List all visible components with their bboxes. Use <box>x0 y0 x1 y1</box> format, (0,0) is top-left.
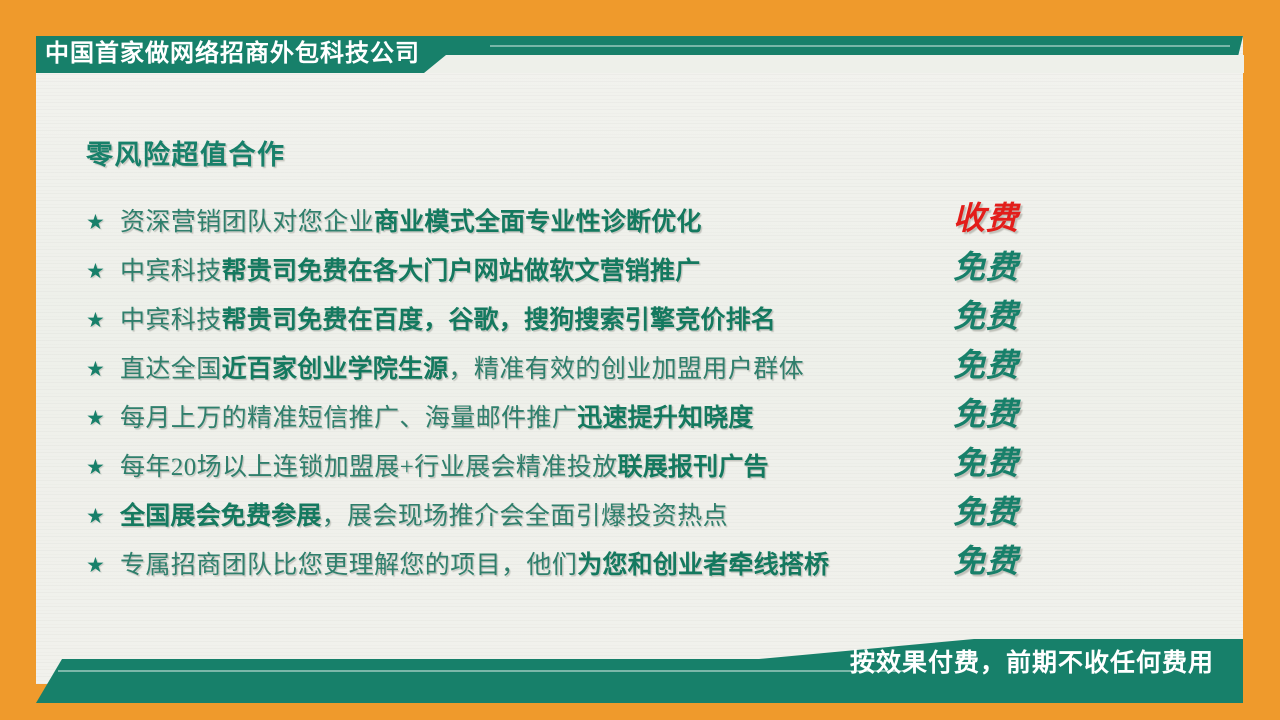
price-badge: 免费 <box>953 539 1073 588</box>
benefit-text-plain-before: 专属招商团队比您更理解您的项目，他们 <box>120 552 577 579</box>
benefit-text-plain-after: ，精准有效的创业加盟用户群体 <box>448 356 804 383</box>
footer-tagline: 按效果付费，前期不收任何费用 <box>850 645 1214 681</box>
benefit-text: 每月上万的精准短信推广、海量邮件推广迅速提升知晓度 <box>120 405 754 433</box>
benefit-text-emphasis: 商业模式全面专业性诊断优化 <box>374 209 702 236</box>
benefit-text-emphasis: 为您和创业者牵线搭桥 <box>577 552 829 579</box>
benefit-text: 资深营销团队对您企业商业模式全面专业性诊断优化 <box>120 209 702 237</box>
benefit-text-plain-before: 直达全国 <box>120 356 222 383</box>
benefit-text-plain-before: 每年20场以上连锁加盟展+行业展会精准投放 <box>120 454 618 481</box>
price-badge: 免费 <box>953 490 1073 539</box>
benefit-text-emphasis: 帮贵司免费在百度，谷歌，搜狗搜索引擎竞价排名 <box>222 307 776 334</box>
star-bullet-icon: ★ <box>86 457 120 478</box>
benefit-text: 专属招商团队比您更理解您的项目，他们为您和创业者牵线搭桥 <box>120 552 829 580</box>
benefit-text: 直达全国近百家创业学院生源，精准有效的创业加盟用户群体 <box>120 356 804 384</box>
star-bullet-icon: ★ <box>86 310 120 331</box>
star-bullet-icon: ★ <box>86 212 120 233</box>
benefit-text-plain-before: 中宾科技 <box>120 258 222 285</box>
price-badge: 收费 <box>953 196 1073 245</box>
page-title: 零风险超值合作 <box>86 133 286 172</box>
star-bullet-icon: ★ <box>86 408 120 429</box>
benefit-text-emphasis: 联展报刊广告 <box>618 454 769 481</box>
benefit-text-plain-after: ，展会现场推介会全面引爆投资热点 <box>322 503 728 530</box>
benefit-text-emphasis: 迅速提升知晓度 <box>577 405 753 432</box>
benefit-text-emphasis: 近百家创业学院生源 <box>222 356 449 383</box>
benefit-text-plain-before: 每月上万的精准短信推广、海量邮件推广 <box>120 405 577 432</box>
header-hairline-divider <box>490 45 1230 47</box>
benefit-text-emphasis: 全国展会免费参展 <box>120 503 322 530</box>
price-badge: 免费 <box>953 245 1073 294</box>
benefit-text: 中宾科技帮贵司免费在百度，谷歌，搜狗搜索引擎竞价排名 <box>120 307 776 335</box>
star-bullet-icon: ★ <box>86 506 120 527</box>
price-badge: 免费 <box>953 343 1073 392</box>
price-column: 收费免费免费免费免费免费免费免费 <box>953 196 1073 588</box>
footer-hairline-divider <box>58 670 903 672</box>
benefit-text-plain-before: 资深营销团队对您企业 <box>120 209 374 236</box>
benefit-text: 全国展会免费参展，展会现场推介会全面引爆投资热点 <box>120 503 728 531</box>
header-title: 中国首家做网络招商外包科技公司 <box>45 37 420 71</box>
benefit-text: 中宾科技帮贵司免费在各大门户网站做软文营销推广 <box>120 258 700 286</box>
star-bullet-icon: ★ <box>86 555 120 576</box>
benefit-text-plain-before: 中宾科技 <box>120 307 222 334</box>
price-badge: 免费 <box>953 294 1073 343</box>
benefit-text: 每年20场以上连锁加盟展+行业展会精准投放联展报刊广告 <box>120 454 769 482</box>
header-banner-notch <box>424 55 1244 73</box>
benefit-text-emphasis: 帮贵司免费在各大门户网站做软文营销推广 <box>222 258 701 285</box>
star-bullet-icon: ★ <box>86 261 120 282</box>
star-bullet-icon: ★ <box>86 359 120 380</box>
slide-canvas: 中国首家做网络招商外包科技公司 零风险超值合作 ★资深营销团队对您企业商业模式全… <box>0 0 1280 720</box>
price-badge: 免费 <box>953 441 1073 490</box>
price-badge: 免费 <box>953 392 1073 441</box>
